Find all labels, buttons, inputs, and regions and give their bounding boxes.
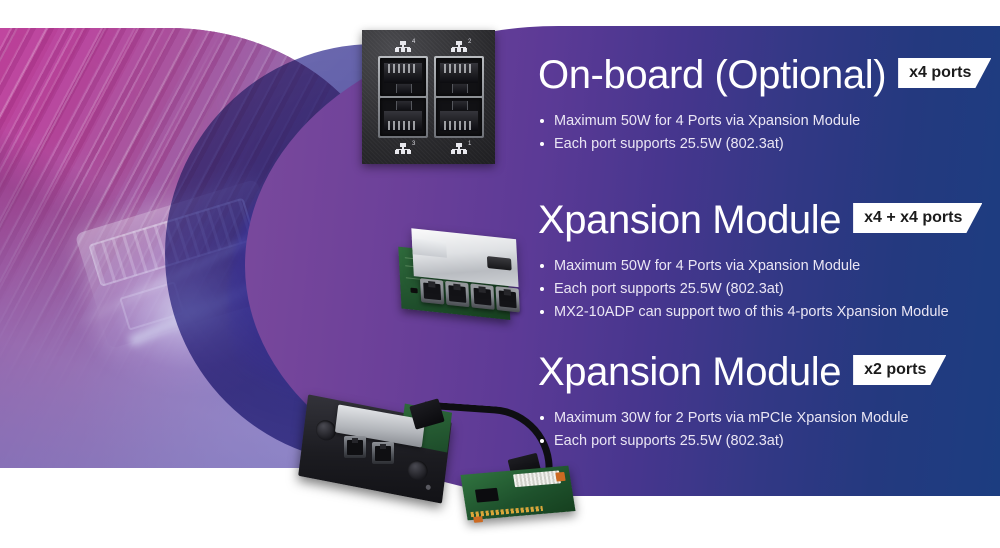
section-heading-row: On-board (Optional) x4 ports [538,52,991,98]
list-item: Each port supports 25.5W (802.3at) [538,278,982,301]
section-title: Xpansion Module [538,197,841,243]
list-item: Maximum 50W for 4 Ports via Xpansion Mod… [538,255,982,278]
section-heading-row: Xpansion Module x4 + x4 ports [538,197,982,243]
list-item: MX2-10ADP can support two of this 4-port… [538,301,982,324]
feature-list: Maximum 30W for 2 Ports via mPCIe Xpansi… [538,407,946,453]
section-heading-row: Xpansion Module x2 ports [538,349,946,395]
section-title: On-board (Optional) [538,52,886,98]
ports-badge: x2 ports [853,355,946,385]
feature-list: Maximum 50W for 4 Ports via Xpansion Mod… [538,255,982,324]
list-item: Maximum 50W for 4 Ports via Xpansion Mod… [538,110,991,133]
list-item: Maximum 30W for 2 Ports via mPCIe Xpansi… [538,407,946,430]
section-title: Xpansion Module [538,349,841,395]
list-item: Each port supports 25.5W (802.3at) [538,430,946,453]
list-item: Each port supports 25.5W (802.3at) [538,133,991,156]
feature-list: Maximum 50W for 4 Ports via Xpansion Mod… [538,110,991,156]
section-xpansion-module-4x4: Xpansion Module x4 + x4 ports Maximum 50… [538,197,982,324]
section-xpansion-module-x2: Xpansion Module x2 ports Maximum 30W for… [538,349,946,453]
section-on-board: On-board (Optional) x4 ports Maximum 50W… [538,52,991,156]
infographic-canvas: 4 2 3 1 [0,0,1000,548]
ports-badge: x4 + x4 ports [853,203,982,233]
text-content: On-board (Optional) x4 ports Maximum 50W… [0,0,1000,548]
ports-badge: x4 ports [898,58,991,88]
